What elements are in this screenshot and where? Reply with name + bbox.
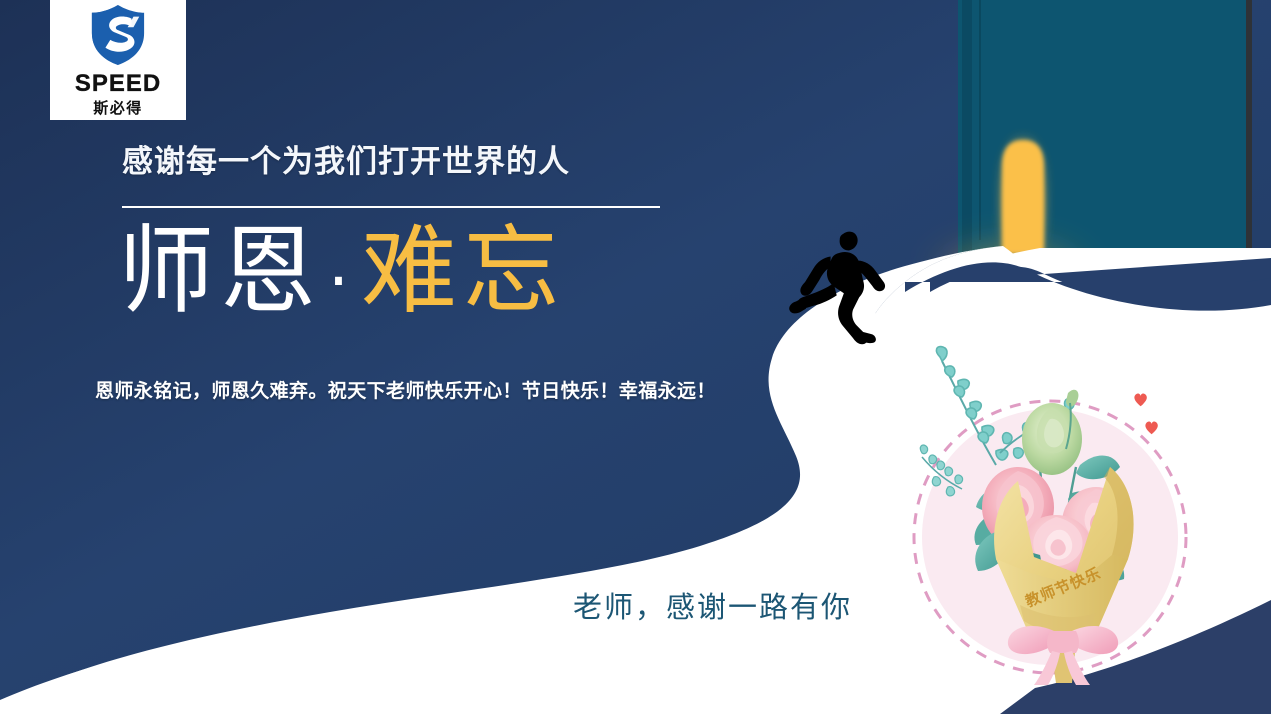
shield-icon — [89, 4, 147, 66]
headline-part-a: 师恩 — [118, 215, 322, 327]
speed-logo: SPEED 斯必得 — [50, 0, 186, 120]
doorway-group — [1000, 136, 1046, 256]
logo-wordmark: SPEED — [75, 72, 161, 96]
page-title: 师恩·难忘 — [118, 218, 565, 326]
flower-bouquet: 教师节快乐 — [900, 345, 1200, 685]
headline-part-b: 难忘 — [361, 215, 565, 327]
heart-2 — [1145, 422, 1157, 435]
tagline: 老师，感谢一路有你 — [573, 584, 852, 626]
divider-line — [122, 206, 660, 208]
poster-slide: SPEED 斯必得 感谢每一个为我们打开世界的人 师恩·难忘 恩师永铭记，师恩久… — [0, 0, 1271, 714]
heart-1 — [1134, 394, 1146, 407]
body-message: 恩师永铭记，师恩久难弃。祝天下老师快乐开心！节日快乐！幸福永远！ — [95, 376, 716, 403]
headline-separator: · — [322, 243, 361, 320]
logo-chinese-name: 斯必得 — [93, 101, 143, 116]
subtitle: 感谢每一个为我们打开世界的人 — [122, 136, 570, 181]
